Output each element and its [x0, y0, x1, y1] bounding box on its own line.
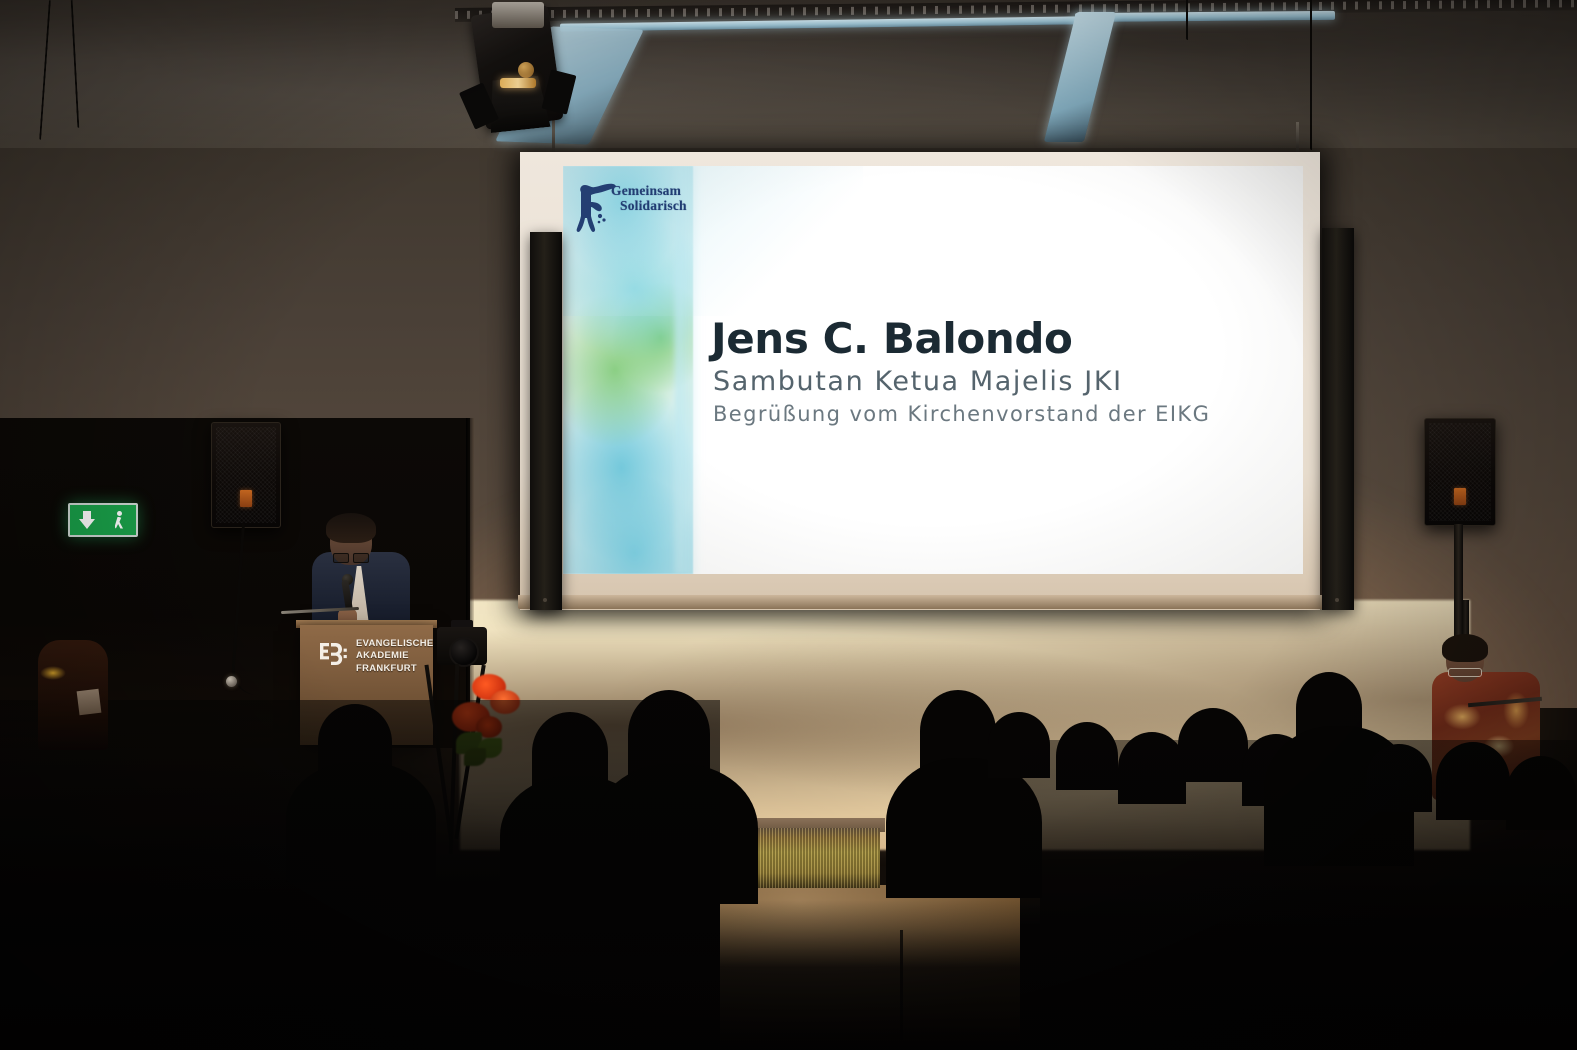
batik-person-glasses: [1448, 668, 1482, 677]
spotlight-knob: [518, 62, 534, 78]
slide-logo-text: Gemeinsam Solidarisch: [611, 184, 687, 213]
conference-hall-photo: Gemeinsam Solidarisch Jens C. Balondo Sa…: [0, 0, 1577, 1050]
speaker-badge: [240, 490, 252, 507]
speaker-grille: [1429, 423, 1491, 521]
hanging-cable: [1310, 0, 1312, 150]
spotlight-lens: [500, 78, 536, 88]
dim-figure-paper: [77, 689, 102, 716]
podium-venue-text: EVANGELISCHE AKADEMIE FRANKFURT: [356, 637, 433, 674]
slide-title: Jens C. Balondo: [711, 314, 1072, 363]
projected-slide: Gemeinsam Solidarisch Jens C. Balondo Sa…: [563, 166, 1303, 574]
slide-logo: Gemeinsam Solidarisch: [573, 174, 699, 240]
logo-line-1: Gemeinsam: [611, 183, 681, 198]
logo-line-2: Solidarisch: [611, 199, 687, 214]
foreground-darkness: [0, 900, 1577, 1050]
spotlight-clamp: [492, 2, 544, 28]
presenter-hair: [326, 513, 376, 543]
presenter-glasses: [333, 553, 369, 561]
screen-bottom-bar: [518, 595, 1324, 609]
wall-mounted-loudspeaker-left: [211, 422, 281, 528]
podium-line-3: FRANKFURT: [356, 662, 433, 674]
evangelische-akademie-eae-logo-icon: [318, 639, 348, 669]
down-arrow-icon: [79, 511, 95, 529]
podium-line-2: AKADEMIE: [356, 649, 433, 661]
running-person-icon: [112, 511, 128, 530]
speaker-grille: [216, 427, 276, 523]
emergency-exit-sign: [68, 503, 138, 537]
cable-connector: [226, 676, 237, 687]
podium-line-1: EVANGELISCHE: [356, 637, 433, 649]
slide-subtitle-secondary: Begrüßung vom Kirchenvorstand der EIKG: [713, 402, 1210, 426]
dim-figure-highlight: [40, 666, 66, 680]
audience-shoulders: [886, 758, 1042, 898]
hanging-cable: [1186, 0, 1188, 40]
speaker-badge: [1454, 488, 1466, 505]
line-array-column-right: [1322, 228, 1354, 610]
batik-person-hair: [1442, 634, 1488, 662]
slide-subtitle: Sambutan Ketua Majelis JKI: [713, 366, 1123, 397]
camera-lens: [449, 637, 479, 667]
loudspeaker-on-stand-right: [1424, 418, 1496, 526]
line-array-column-left: [530, 232, 562, 610]
